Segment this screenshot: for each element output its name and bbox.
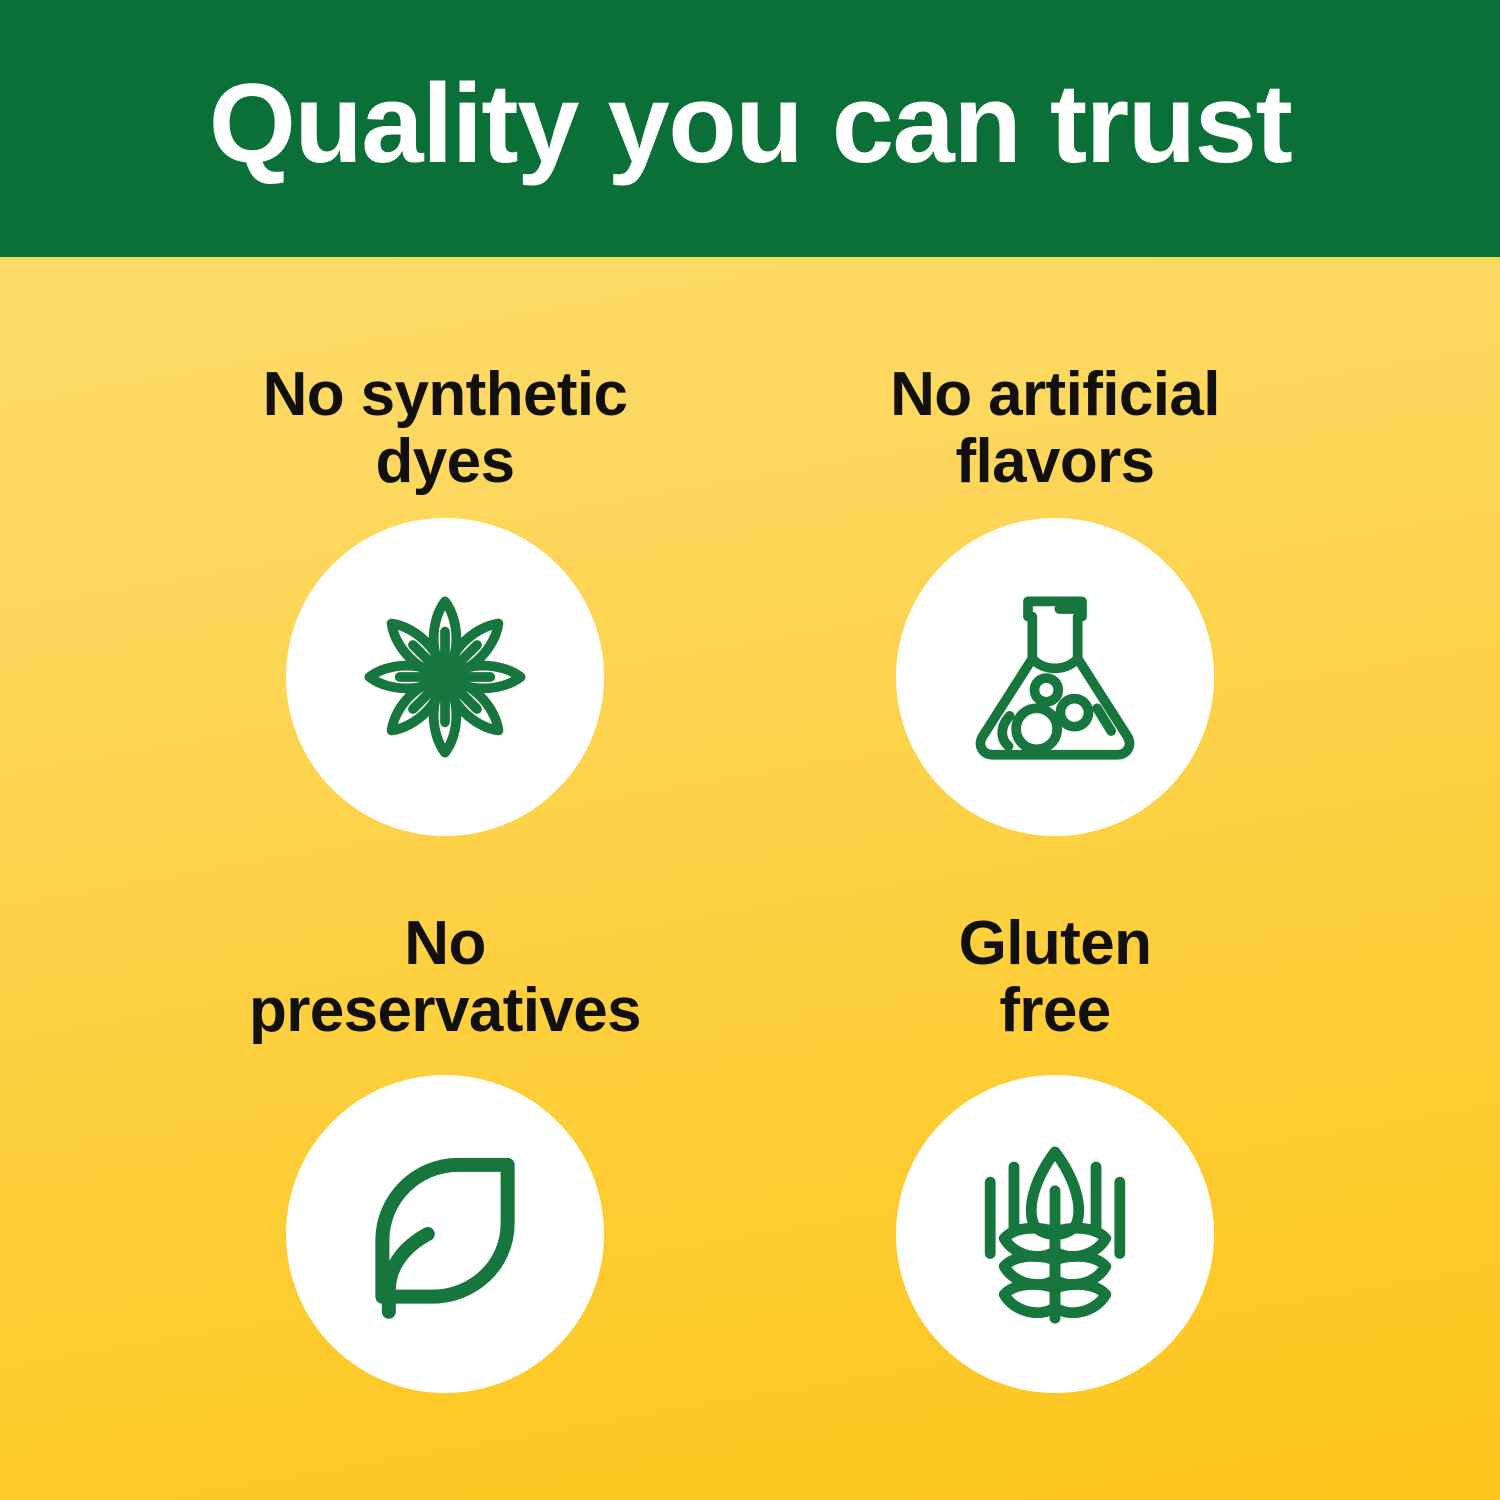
feature-label: No artificial flavors bbox=[890, 362, 1220, 496]
wheat-stalk-icon bbox=[947, 1126, 1163, 1342]
feature-label: No preservatives bbox=[249, 911, 641, 1045]
feature-no-synthetic-dyes: No synthetic dyes bbox=[170, 362, 750, 911]
icon-badge bbox=[286, 1075, 604, 1393]
feature-label: No synthetic dyes bbox=[263, 362, 628, 496]
feature-label: Gluten free bbox=[959, 911, 1152, 1045]
leaf-icon bbox=[337, 1126, 553, 1342]
quality-claims-poster: Quality you can trust No synthetic dyes bbox=[0, 0, 1500, 1500]
feature-no-preservatives: No preservatives bbox=[170, 911, 750, 1460]
icon-badge bbox=[286, 518, 604, 836]
icon-badge bbox=[896, 1075, 1214, 1393]
page-title: Quality you can trust bbox=[209, 68, 1291, 180]
feature-grid: No synthetic dyes bbox=[0, 262, 1500, 1500]
feature-gluten-free: Gluten free bbox=[750, 911, 1330, 1460]
feature-no-artificial-flavors: No artificial flavors bbox=[750, 362, 1330, 911]
erlenmeyer-flask-icon bbox=[947, 569, 1163, 785]
header-banner: Quality you can trust bbox=[0, 0, 1500, 257]
icon-badge bbox=[896, 518, 1214, 836]
header-divider bbox=[0, 257, 1500, 261]
flower-petals-icon bbox=[337, 569, 553, 785]
